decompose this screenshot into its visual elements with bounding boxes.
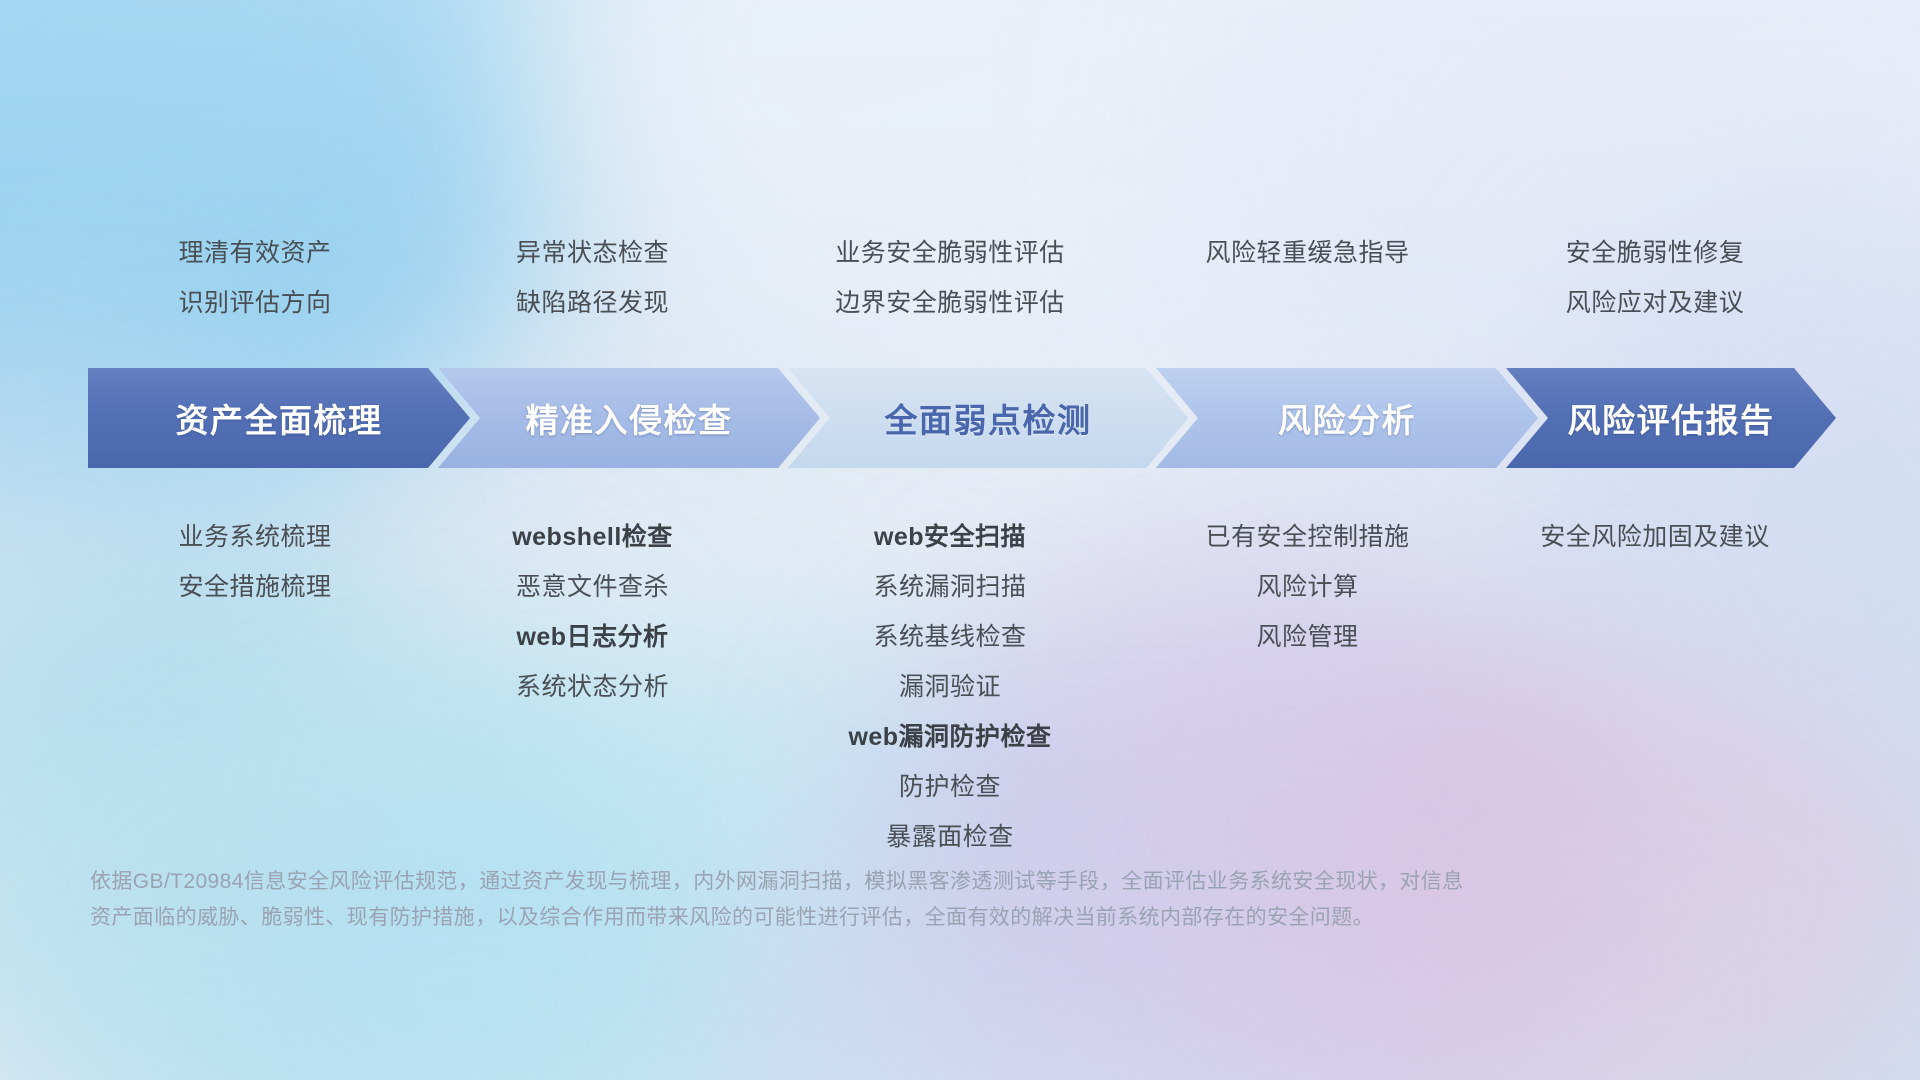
detail-item: 漏洞验证 (899, 662, 1001, 712)
detail-item: 系统状态分析 (516, 662, 669, 712)
chevron-stage-3[interactable]: 全面弱点检测 (788, 368, 1188, 468)
slide-canvas: 理清有效资产 识别评估方向 异常状态检查 缺陷路径发现 业务安全脆弱性评估 边界… (0, 0, 1920, 1080)
detail-item: 已有安全控制措施 (1205, 512, 1409, 562)
top-item: 边界安全脆弱性评估 (835, 278, 1065, 328)
chevron-label: 全面弱点检测 (885, 394, 1092, 442)
diagram-content: 理清有效资产 识别评估方向 异常状态检查 缺陷路径发现 业务安全脆弱性评估 边界… (0, 0, 1920, 1080)
bottom-column-1: 业务系统梳理 安全措施梳理 (90, 512, 420, 612)
chevron-label: 资产全面梳理 (176, 394, 383, 442)
footer-description: 依据GB/T20984信息安全风险评估规范，通过资产发现与梳理，内外网漏洞扫描，… (90, 864, 1590, 936)
detail-item: webshell检查 (512, 512, 673, 562)
top-column-3: 业务安全脆弱性评估 边界安全脆弱性评估 (765, 228, 1135, 328)
detail-item: 暴露面检查 (886, 812, 1014, 862)
chevron-label: 风险评估报告 (1568, 394, 1775, 442)
top-column-2: 异常状态检查 缺陷路径发现 (420, 228, 765, 328)
top-descriptor-row: 理清有效资产 识别评估方向 异常状态检查 缺陷路径发现 业务安全脆弱性评估 边界… (90, 228, 1830, 328)
bottom-column-3: web安全扫描 系统漏洞扫描 系统基线检查 漏洞验证 web漏洞防护检查 防护检… (765, 512, 1135, 862)
detail-item: 业务系统梳理 (178, 512, 331, 562)
detail-item: 系统漏洞扫描 (873, 562, 1026, 612)
bottom-column-2: webshell检查 恶意文件查杀 web日志分析 系统状态分析 (420, 512, 765, 712)
chevron-label: 精准入侵检查 (526, 394, 733, 442)
top-item: 识别评估方向 (178, 278, 331, 328)
bottom-detail-row: 业务系统梳理 安全措施梳理 webshell检查 恶意文件查杀 web日志分析 … (90, 512, 1830, 862)
bottom-column-4: 已有安全控制措施 风险计算 风险管理 (1135, 512, 1480, 662)
top-item: 缺陷路径发现 (516, 278, 669, 328)
top-column-5: 安全脆弱性修复 风险应对及建议 (1480, 228, 1830, 328)
detail-item: web日志分析 (516, 612, 668, 662)
detail-item: 安全措施梳理 (178, 562, 331, 612)
detail-item: 风险管理 (1256, 612, 1358, 662)
detail-item: 风险计算 (1256, 562, 1358, 612)
top-column-4: 风险轻重缓急指导 (1135, 228, 1480, 278)
top-column-1: 理清有效资产 识别评估方向 (90, 228, 420, 328)
top-item: 理清有效资产 (178, 228, 331, 278)
footer-line-2: 资产面临的威胁、脆弱性、现有防护措施，以及综合作用而带来风险的可能性进行评估，全… (90, 900, 1590, 936)
detail-item: 防护检查 (899, 762, 1001, 812)
top-item: 异常状态检查 (516, 228, 669, 278)
chevron-stage-4[interactable]: 风险分析 (1156, 368, 1538, 468)
top-item: 风险应对及建议 (1566, 278, 1745, 328)
detail-item: web漏洞防护检查 (848, 712, 1051, 762)
process-chevron-band: 资产全面梳理 精准入侵检查 全面弱点检测 风险分析 风险评估报告 (88, 368, 1836, 468)
detail-item: 系统基线检查 (873, 612, 1026, 662)
chevron-stage-2[interactable]: 精准入侵检查 (438, 368, 820, 468)
detail-item: web安全扫描 (874, 512, 1026, 562)
bottom-column-5: 安全风险加固及建议 (1480, 512, 1830, 562)
detail-item: 安全风险加固及建议 (1540, 512, 1770, 562)
footer-line-1: 依据GB/T20984信息安全风险评估规范，通过资产发现与梳理，内外网漏洞扫描，… (90, 864, 1590, 900)
top-item: 业务安全脆弱性评估 (835, 228, 1065, 278)
chevron-stage-5[interactable]: 风险评估报告 (1506, 368, 1836, 468)
detail-item: 恶意文件查杀 (516, 562, 669, 612)
chevron-stage-1[interactable]: 资产全面梳理 (88, 368, 470, 468)
top-item: 风险轻重缓急指导 (1205, 228, 1409, 278)
top-item: 安全脆弱性修复 (1566, 228, 1745, 278)
chevron-label: 风险分析 (1278, 394, 1416, 442)
